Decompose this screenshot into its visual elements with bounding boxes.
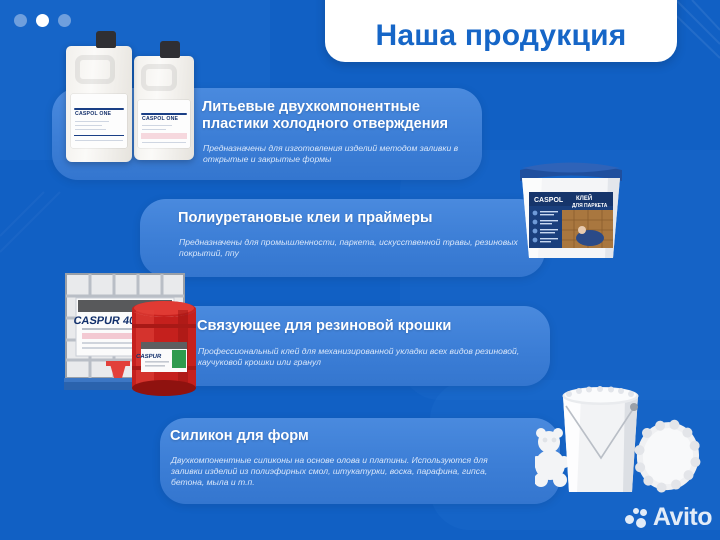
card-heading: Полиуретановые клеи и праймеры <box>178 210 538 227</box>
slide-dot-3[interactable] <box>58 14 71 27</box>
poster-canvas: Наша продукция Литьевые двухкомпонентные… <box>0 0 720 540</box>
title-plate: Наша продукция <box>325 0 677 62</box>
card-heading: Силикон для форм <box>170 428 500 445</box>
card-heading: Связующее для резиновой крошки <box>197 318 547 335</box>
card-description: Предназначены для промышленности, паркет… <box>179 237 519 259</box>
card-description: Профессиональный клей для механизированн… <box>198 346 540 368</box>
product-image-silicone-pail <box>535 376 627 494</box>
svg-text:CASPOL: CASPOL <box>534 197 564 204</box>
svg-text:КЛЕЙ: КЛЕЙ <box>576 194 592 202</box>
avito-logo-icon <box>625 507 647 529</box>
card-heading: Литьевые двухкомпонентные пластики холод… <box>202 99 478 132</box>
card-description: Двухкомпонентные силиконы на основе олов… <box>171 455 501 489</box>
page-title: Наша продукция <box>375 19 626 53</box>
product-card-rubber-crumb-binder[interactable]: Связующее для резиновой крошки Профессио… <box>150 306 550 386</box>
product-card-pu-adhesives[interactable]: Полиуретановые клеи и праймеры Предназна… <box>140 199 545 277</box>
product-image-parquet-glue-bucket: CASPOL КЛЕЙ ДЛЯ ПАРКЕТА <box>512 150 630 262</box>
svg-text:ДЛЯ ПАРКЕТА: ДЛЯ ПАРКЕТА <box>572 203 608 209</box>
slide-dot-2[interactable] <box>36 14 49 27</box>
product-card-mold-silicone[interactable]: Силикон для форм Двухкомпонентные силико… <box>160 418 560 504</box>
svg-text:CASPUR: CASPUR <box>135 354 162 360</box>
product-image-canisters: CASPOL ONE CASPOL ONE <box>60 34 210 166</box>
avito-watermark: Avito <box>625 503 712 532</box>
product-image-red-drum: CASPUR <box>128 300 200 396</box>
slide-dot-1[interactable] <box>14 14 27 27</box>
card-description: Предназначены для изготовления изделий м… <box>203 143 475 165</box>
avito-wordmark: Avito <box>653 503 712 532</box>
slide-dots <box>14 14 71 27</box>
